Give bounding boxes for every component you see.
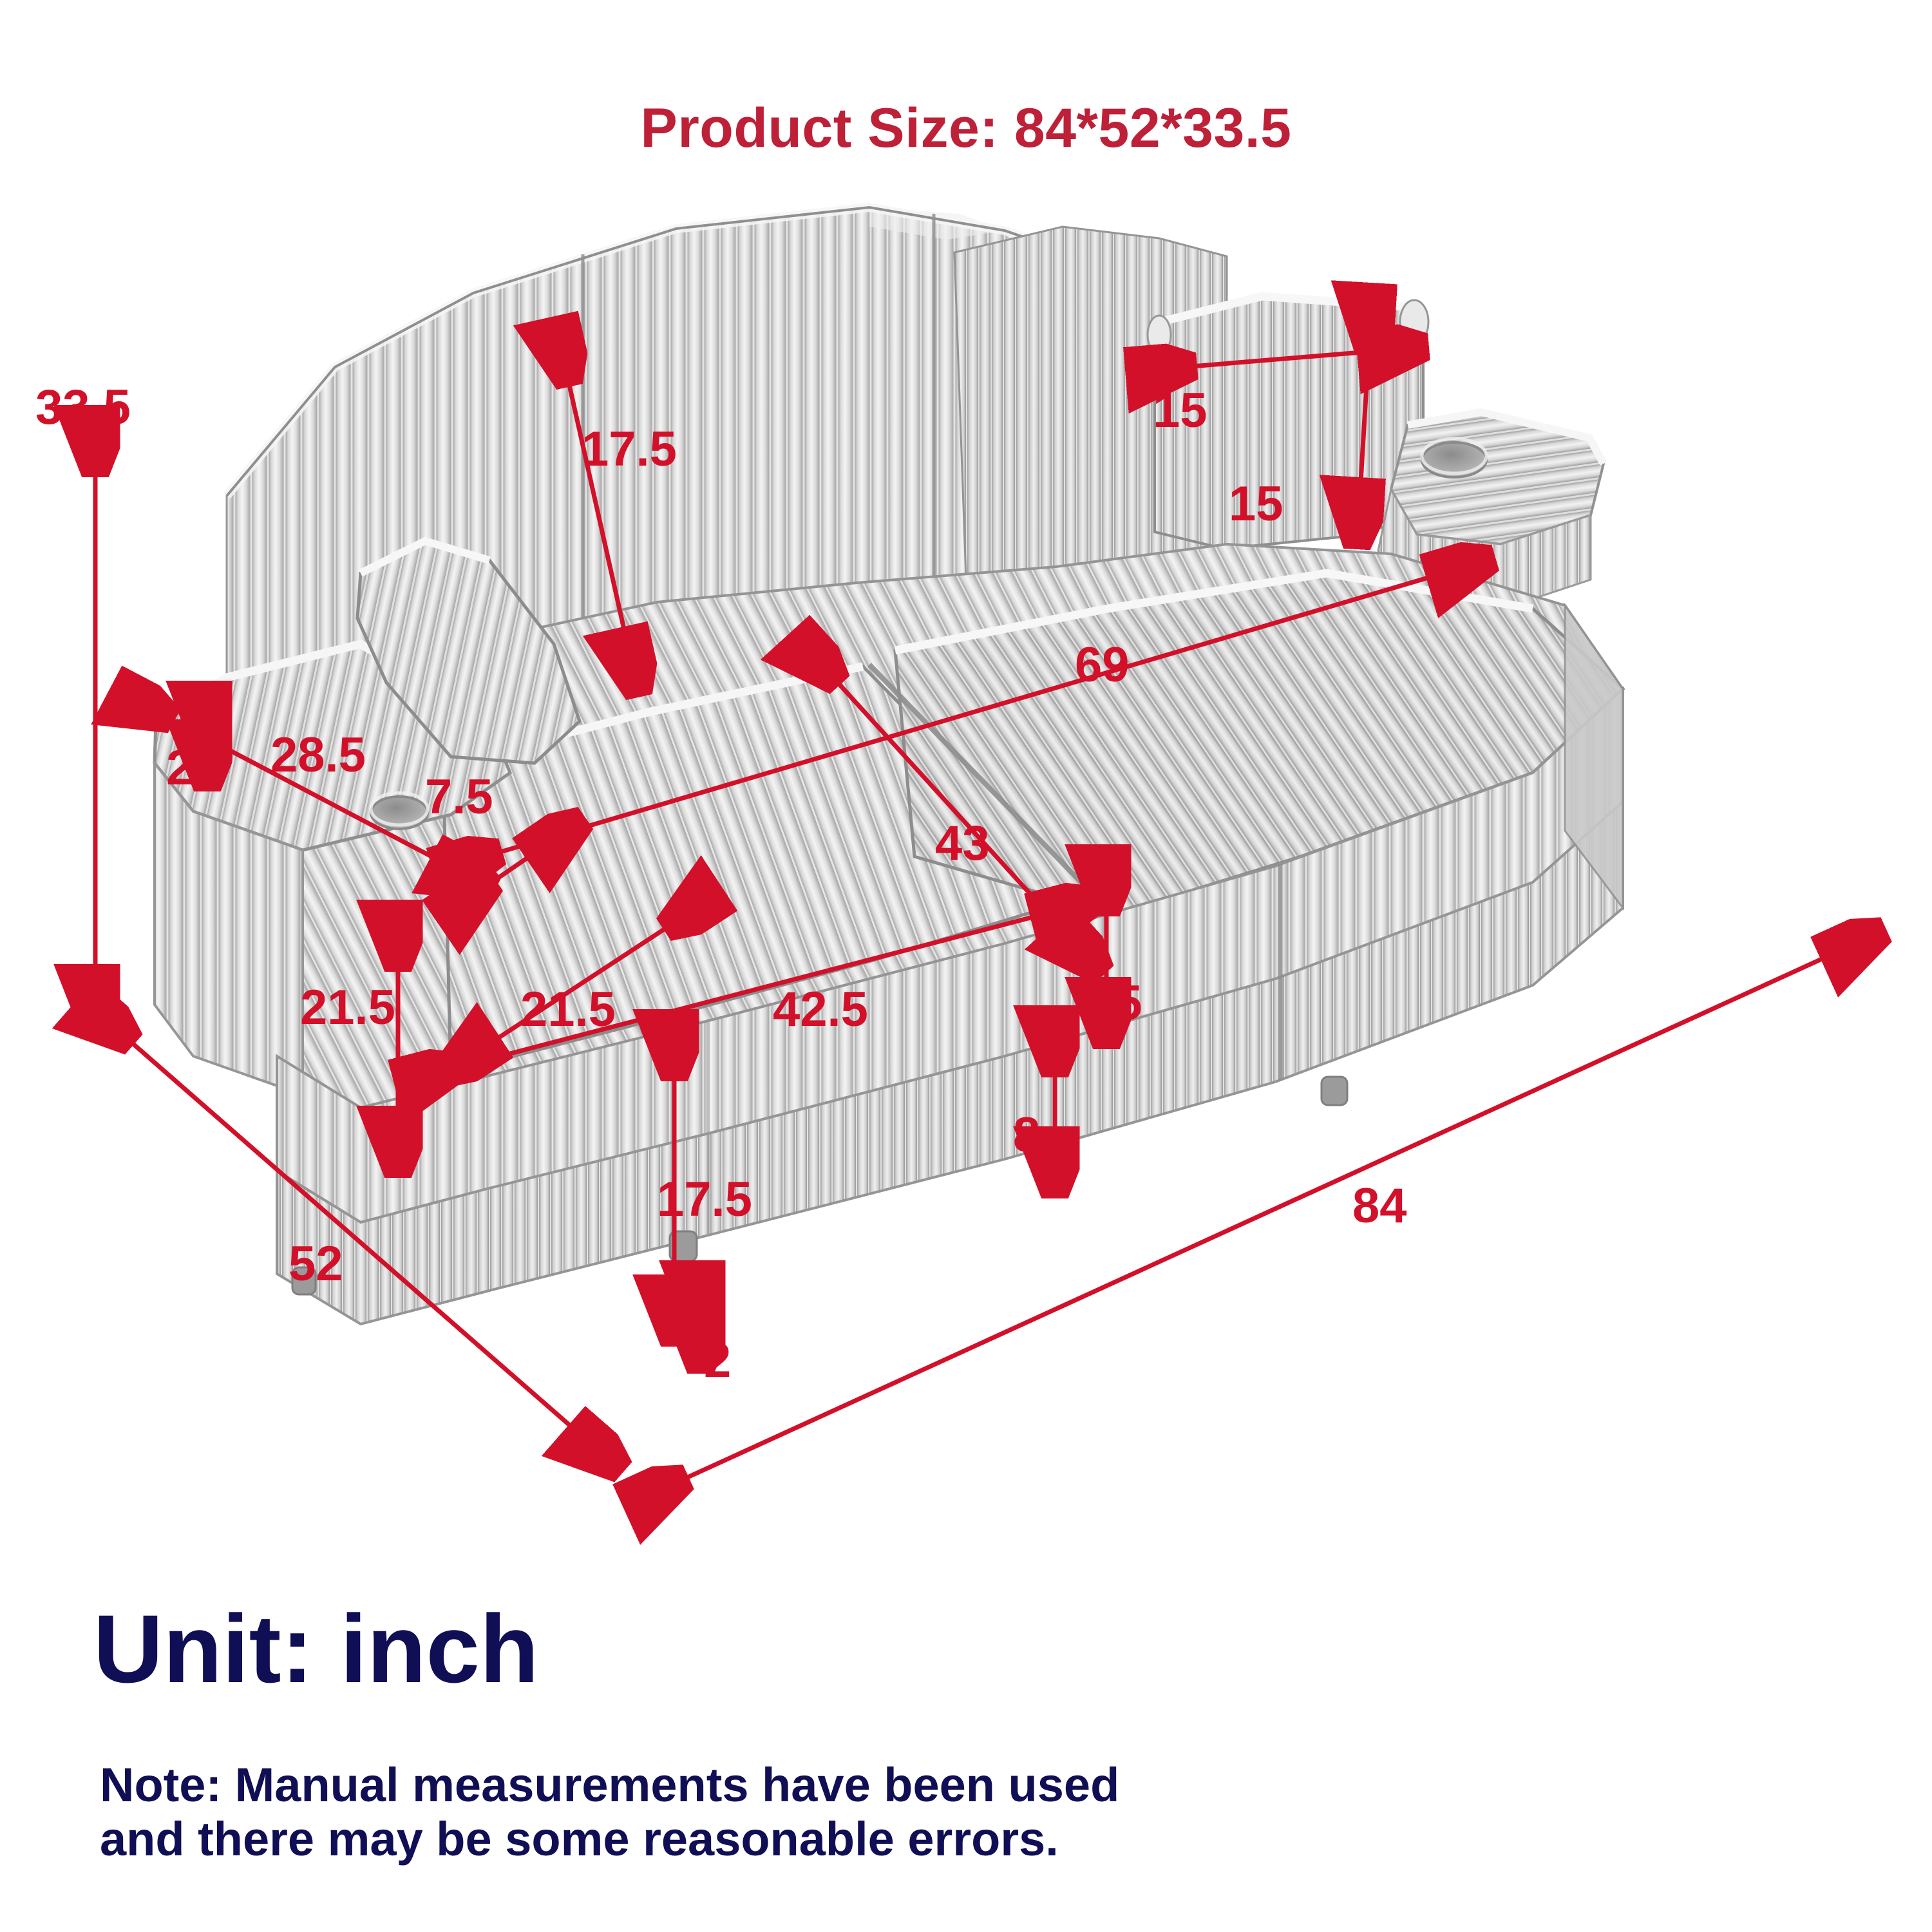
dim-arm-width: 7.5 [425,773,493,822]
dim-arm-top-thickness: 2 [166,744,193,793]
dim-arm-length: 28.5 [270,731,366,780]
dim-base-height-8: 8 [1013,1111,1040,1160]
dim-leg-height-2: 2 [704,1336,731,1385]
dim-overall-depth-52: 52 [289,1240,343,1289]
dim-overall-height: 33.5 [35,383,131,432]
dim-overall-width-84: 84 [1352,1182,1407,1231]
dim-right-pillow-width: 15 [1153,386,1207,435]
page-title: Product Size: 84*52*33.5 [0,97,1932,160]
dim-cushion-thickness-7p5: 7.5 [1074,979,1142,1028]
dim-right-pillow-height: 15 [1229,480,1283,529]
dim-cushion-depth-21p5: 21.5 [520,985,616,1034]
sofa-body [155,207,1623,1324]
dim-seat-height-21p5: 21.5 [300,983,395,1032]
measurement-note: Note: Manual measurements have been used… [100,1758,1645,1867]
dim-seat-depth-43: 43 [935,819,990,868]
unit-label: Unit: inch [93,1600,539,1697]
dim-backrest-height: 17.5 [582,425,677,474]
dim-cushion-width-42p5: 42.5 [773,985,868,1034]
product-dimension-diagram: Product Size: 84*52*33.5 33.5 17.5 15 15… [0,0,1932,1932]
dim-front-height-17p5: 17.5 [657,1175,752,1224]
dim-seat-width-69: 69 [1075,641,1130,690]
